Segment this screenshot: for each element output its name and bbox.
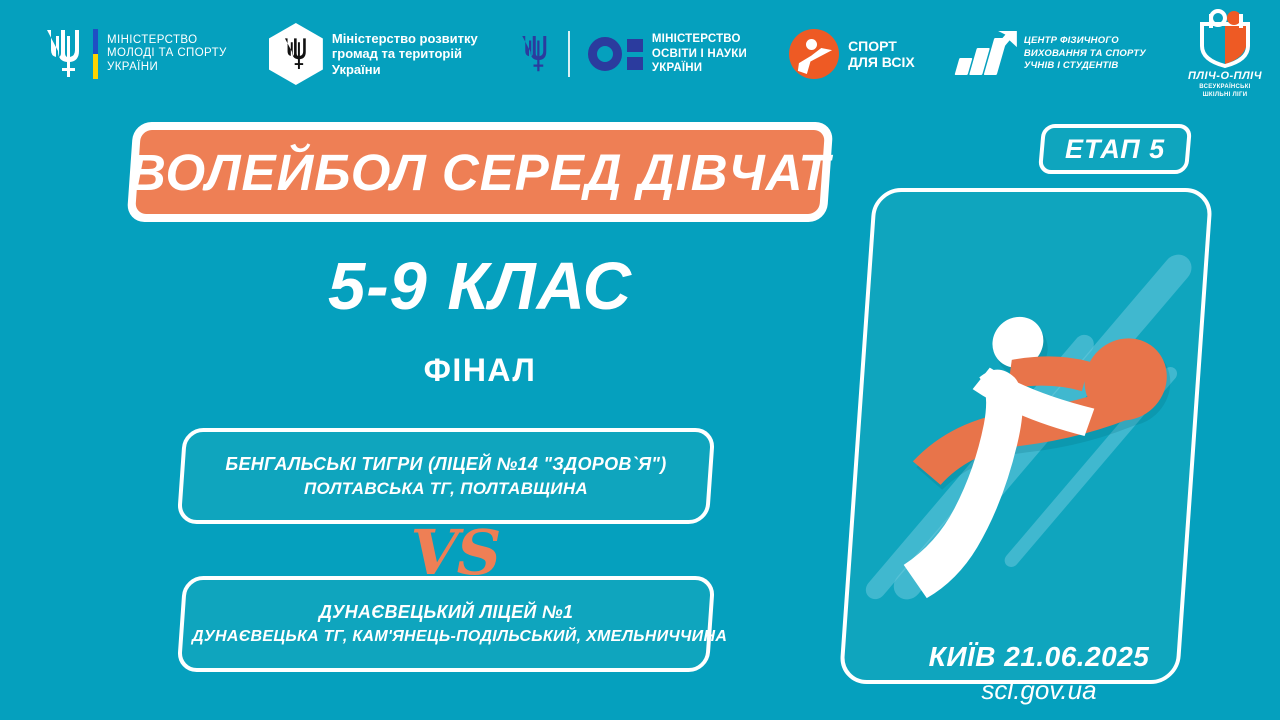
team-name: БЕНГАЛЬСЬКІ ТИГРИ (ЛІЦЕЙ №14 "ЗДОРОВ`Я") [192,451,700,477]
page-title: ВОЛЕЙБОЛ СЕРЕД ДІВЧАТ [129,143,831,202]
shield-figures-icon [1194,8,1256,68]
logo-centre-physical-education-text: ЦЕНТР ФІЗИЧНОГО ВИХОВАННЯ ТА СПОРТУ УЧНІ… [1024,35,1146,72]
trident-icon [520,31,550,77]
logo-plich-o-plich-title: ПЛІЧ-О-ПЛІЧ [1188,70,1262,82]
team-card: ДУНАЄВЕЦЬКИЙ ЛІЦЕЙ №1 ДУНАЄВЕЦЬКА ТГ, КА… [177,576,716,672]
mon-emblem-icon [588,37,643,71]
logo-plich-o-plich-subtitle: ВСЕУКРАЇНСЬКІ ШКІЛЬНІ ЛІГИ [1199,84,1251,100]
illustration-panel [839,188,1214,684]
website-url[interactable]: scl.gov.ua [894,675,1184,706]
event-date: КИЇВ 21.06.2025 [894,641,1184,673]
logo-ministry-education: МІНІСТЕРСТВО ОСВІТИ І НАУКИ УКРАЇНИ [520,31,747,77]
trident-icon [44,26,84,82]
divider [568,31,570,77]
stage-badge-label: ЕТАП 5 [1065,134,1165,165]
logo-ministry-youth-sport: МІНІСТЕРСТВО МОЛОДІ ТА СПОРТУ УКРАЇНИ [44,26,227,82]
class-range-label: 5-9 КЛАС [130,248,830,325]
logo-sport-for-all-text: СПОРТ ДЛЯ ВСІХ [848,38,915,70]
team-location: ДУНАЄВЕЦЬКА ТГ, КАМ'ЯНЕЦЬ-ПОДІЛЬСЬКИЙ, Х… [192,625,700,648]
stage-badge: ЕТАП 5 [1038,124,1192,174]
logo-centre-physical-education: ЦЕНТР ФІЗИЧНОГО ВИХОВАННЯ ТА СПОРТУ УЧНІ… [957,31,1146,77]
logo-ministry-youth-sport-text: МІНІСТЕРСТВО МОЛОДІ ТА СПОРТУ УКРАЇНИ [107,34,227,74]
team-location: ПОЛТАВСЬКА ТГ, ПОЛТАВЩИНА [192,477,700,502]
team-name: ДУНАЄВЕЦЬКИЙ ЛІЦЕЙ №1 [192,599,700,625]
event-footer: КИЇВ 21.06.2025 scl.gov.ua [894,641,1184,706]
sponsor-logo-bar: МІНІСТЕРСТВО МОЛОДІ ТА СПОРТУ УКРАЇНИ Мі… [0,0,1280,108]
logo-ministry-education-text: МІНІСТЕРСТВО ОСВІТИ І НАУКИ УКРАЇНИ [652,32,747,75]
logo-sport-for-all: СПОРТ ДЛЯ ВСІХ [789,29,915,79]
logo-plich-o-plich: ПЛІЧ-О-ПЛІЧ ВСЕУКРАЇНСЬКІ ШКІЛЬНІ ЛІГИ [1188,8,1262,100]
trident-hexagon-icon [269,23,323,85]
versus-label: VS [410,516,500,589]
squares-icon [627,39,643,70]
round-label: ФІНАЛ [130,352,830,389]
logo-ministry-communities: Міністерство розвитку громад та територі… [269,23,478,85]
rising-bars-arrow-icon [957,31,1015,77]
runner-circle-icon [789,29,839,79]
ukraine-flag-bar-icon [93,29,98,79]
team-card: БЕНГАЛЬСЬКІ ТИГРИ (ЛІЦЕЙ №14 "ЗДОРОВ`Я")… [177,428,716,524]
logo-ministry-communities-text: Міністерство розвитку громад та територі… [332,31,478,78]
volleyball-player-icon [843,192,1209,680]
ring-icon [588,37,622,71]
event-title-banner: ВОЛЕЙБОЛ СЕРЕД ДІВЧАТ [127,122,834,222]
